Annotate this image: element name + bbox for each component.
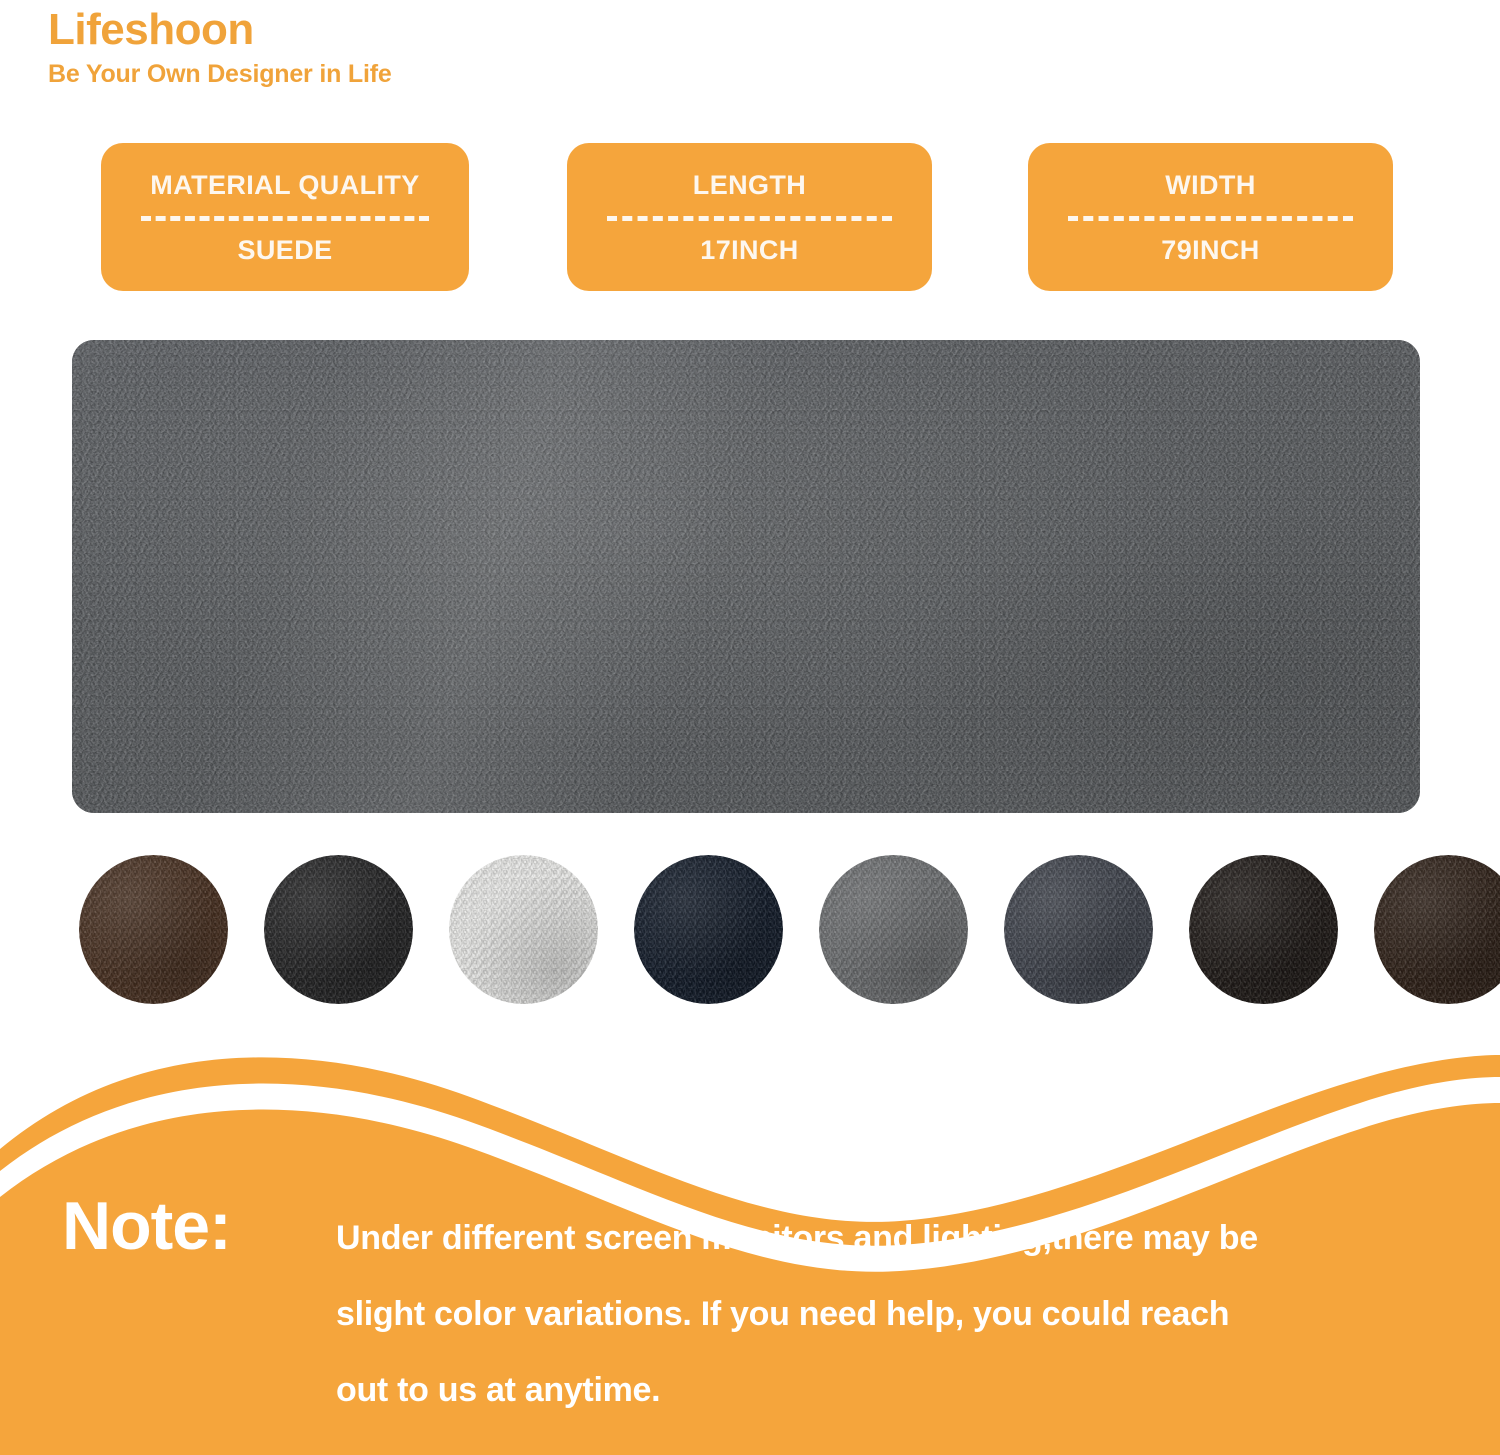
- spec-badge-row: MATERIAL QUALITY SUEDE LENGTH 17INCH WID…: [0, 143, 1500, 295]
- spec-badge-material-quality: MATERIAL QUALITY SUEDE: [101, 143, 469, 291]
- note-line: slight color variations. If you need hel…: [336, 1276, 1456, 1352]
- note-line: Under different screen monitors and ligh…: [336, 1200, 1456, 1276]
- color-swatch-navy-blue[interactable]: [634, 855, 783, 1004]
- brand-header: Lifeshoon Be Your Own Designer in Life: [48, 4, 948, 90]
- spec-badge-divider: [1068, 216, 1353, 221]
- swatch-shading: [1189, 855, 1338, 1004]
- note-line: out to us at anytime.: [336, 1352, 1456, 1428]
- swatch-shading: [634, 855, 783, 1004]
- spec-badge-value: 79INCH: [1161, 235, 1259, 265]
- swatch-shading: [1004, 855, 1153, 1004]
- swatch-shading: [819, 855, 968, 1004]
- spec-badge-label: WIDTH: [1165, 170, 1255, 200]
- note-label: Note:: [62, 1190, 231, 1262]
- spec-badge-value: 17INCH: [700, 235, 798, 265]
- rug-texture-sheen: [72, 340, 1420, 813]
- color-swatch-row: [0, 855, 1500, 1005]
- spec-badge-width: WIDTH 79INCH: [1028, 143, 1393, 291]
- spec-badge-label: MATERIAL QUALITY: [150, 170, 419, 200]
- spec-badge-length: LENGTH 17INCH: [567, 143, 932, 291]
- product-rug-image: [72, 340, 1420, 813]
- swatch-shading: [264, 855, 413, 1004]
- color-swatch-dark-brown[interactable]: [79, 855, 228, 1004]
- brand-name: Lifeshoon: [48, 4, 948, 56]
- color-swatch-charcoal-gray[interactable]: [1004, 855, 1153, 1004]
- color-swatch-black[interactable]: [264, 855, 413, 1004]
- note-body: Under different screen monitors and ligh…: [336, 1200, 1456, 1428]
- swatch-shading: [449, 855, 598, 1004]
- spec-badge-divider: [607, 216, 892, 221]
- spec-badge-divider: [141, 216, 428, 221]
- brand-tagline: Be Your Own Designer in Life: [48, 58, 948, 90]
- note-content: Note: Under different screen monitors an…: [0, 1045, 1500, 1455]
- swatch-shading: [79, 855, 228, 1004]
- note-section: Note: Under different screen monitors an…: [0, 1045, 1500, 1455]
- color-swatch-espresso-brown[interactable]: [1374, 855, 1500, 1004]
- color-swatch-cream-white[interactable]: [449, 855, 598, 1004]
- spec-badge-label: LENGTH: [693, 170, 806, 200]
- color-swatch-coffee-black[interactable]: [1189, 855, 1338, 1004]
- color-swatch-medium-gray[interactable]: [819, 855, 968, 1004]
- spec-badge-value: SUEDE: [237, 235, 332, 265]
